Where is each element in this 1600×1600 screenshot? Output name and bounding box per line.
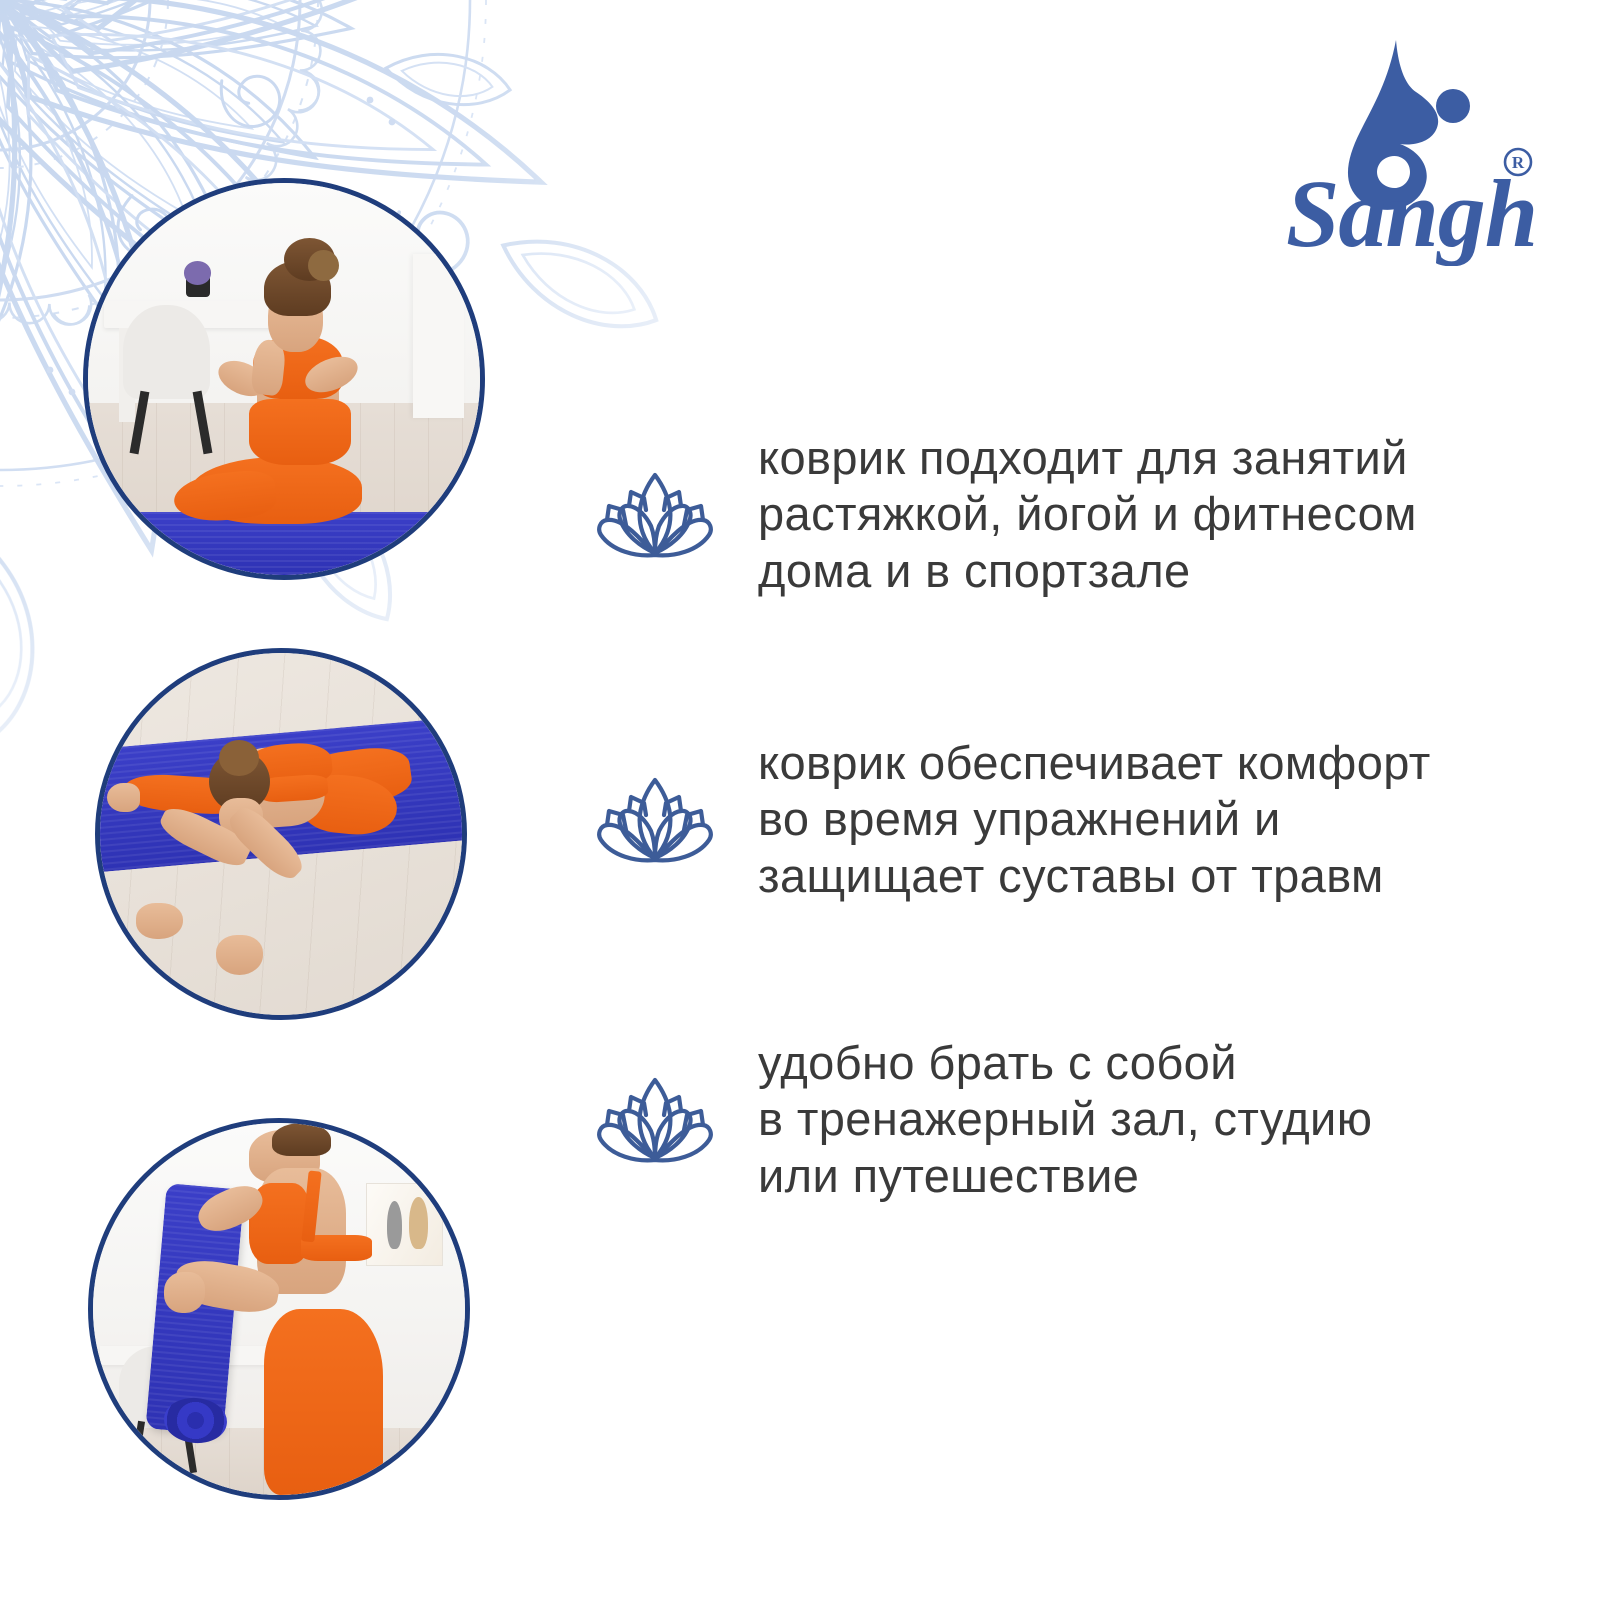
benefit-text-2: коврик обеспечивает комфорт во время упр… bbox=[758, 735, 1431, 904]
lotus-icon bbox=[596, 1074, 714, 1166]
benefit-text-1: коврик подходит для занятий растяжкой, й… bbox=[758, 430, 1417, 599]
benefit-item-2: коврик обеспечивает комфорт во время упр… bbox=[596, 735, 1431, 904]
benefit-text-3: удобно брать с собой в тренажерный зал, … bbox=[758, 1035, 1372, 1204]
lotus-icon bbox=[596, 774, 714, 866]
infographic-canvas: Sangh R bbox=[0, 0, 1600, 1600]
photo-stretching bbox=[95, 648, 467, 1020]
photo-meditation bbox=[83, 178, 485, 580]
photo-carrying-mat bbox=[88, 1118, 470, 1500]
lotus-icon bbox=[596, 469, 714, 561]
benefit-item-3: удобно брать с собой в тренажерный зал, … bbox=[596, 1035, 1372, 1204]
benefit-item-1: коврик подходит для занятий растяжкой, й… bbox=[596, 430, 1417, 599]
benefit-list: коврик подходит для занятий растяжкой, й… bbox=[596, 0, 1600, 1600]
